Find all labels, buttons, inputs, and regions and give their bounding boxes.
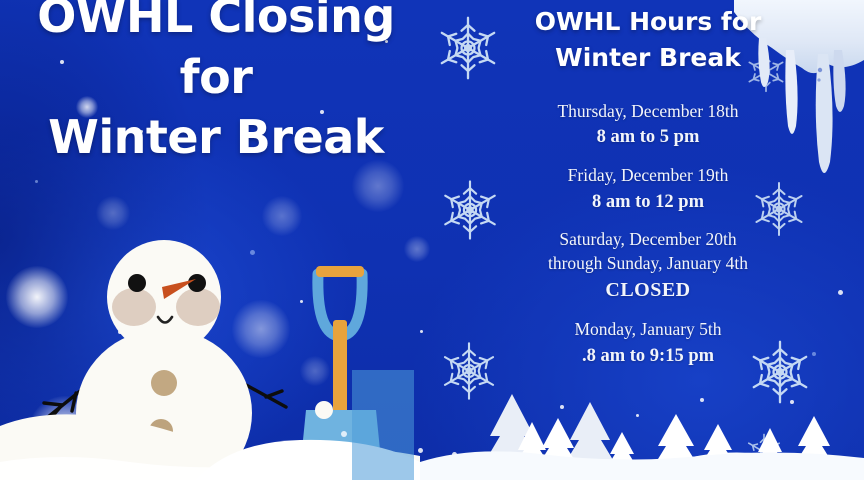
page-title: OWHL Closing for Winter Break xyxy=(0,0,432,168)
shovel-grip xyxy=(316,266,364,277)
snowman-cheek-left xyxy=(112,288,156,326)
hours-entry: Monday, January 5th .8 am to 9:15 pm xyxy=(468,318,828,368)
hours-entry-status-closed: CLOSED xyxy=(468,277,828,304)
hours-panel: OWHL Hours for Winter Break Thursday, De… xyxy=(432,0,864,480)
hours-title: OWHL Hours for Winter Break xyxy=(432,4,864,75)
hours-entry-time: 8 am to 5 pm xyxy=(468,125,828,150)
hours-entry-day: Monday, January 5th xyxy=(468,318,828,341)
snowman-illustration xyxy=(42,225,292,480)
shovel-blade xyxy=(300,410,382,470)
snowman-cheek-right xyxy=(176,288,220,326)
hours-entry-day-continued: through Sunday, January 4th xyxy=(468,252,828,275)
headline-line-2: for xyxy=(0,47,432,108)
winter-break-poster: OWHL Closing for Winter Break OWHL Hours… xyxy=(0,0,864,480)
snowman-eye-right xyxy=(188,274,206,292)
hours-entry: Friday, December 19th 8 am to 12 pm xyxy=(468,164,828,214)
headline-line-1: OWHL Closing xyxy=(0,0,432,47)
snowman-eye-left xyxy=(128,274,146,292)
snowman-button xyxy=(151,370,177,396)
hours-entry-time: 8 am to 12 pm xyxy=(468,190,828,215)
hours-entry-day: Friday, December 19th xyxy=(468,164,828,187)
hours-title-line-1: OWHL Hours for xyxy=(432,4,864,40)
hours-list: Thursday, December 18th 8 am to 5 pm Fri… xyxy=(468,100,828,368)
hours-title-line-2: Winter Break xyxy=(432,40,864,76)
hours-entry: Saturday, December 20th through Sunday, … xyxy=(468,228,828,304)
hours-entry-day: Thursday, December 18th xyxy=(468,100,828,123)
snowman-button xyxy=(149,419,173,443)
hours-entry: Thursday, December 18th 8 am to 5 pm xyxy=(468,100,828,150)
hours-entry-time: .8 am to 9:15 pm xyxy=(468,344,828,369)
headline-line-3: Winter Break xyxy=(0,107,432,168)
hours-entry-day: Saturday, December 20th xyxy=(468,228,828,251)
